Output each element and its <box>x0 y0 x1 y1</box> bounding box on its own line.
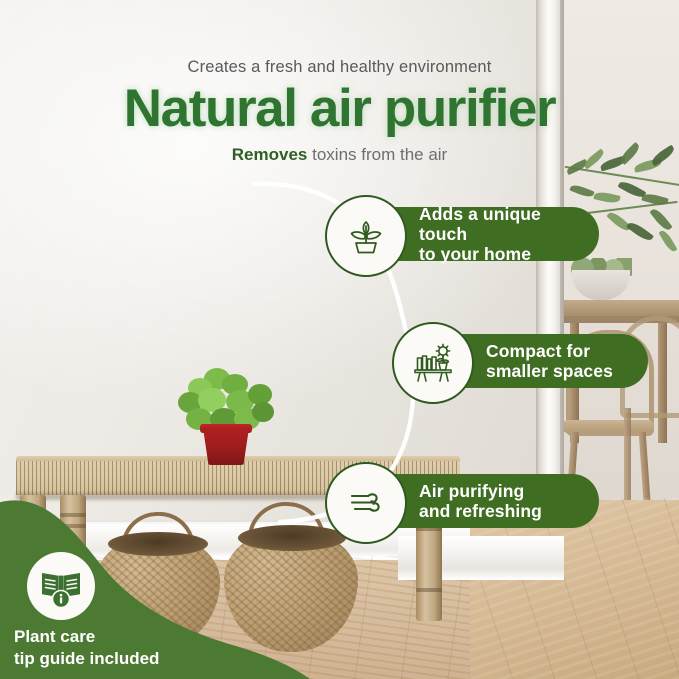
page-title: Natural air purifier <box>0 79 679 139</box>
feature-badge-1-line1: Adds a unique touch <box>419 204 541 244</box>
feature-badge-2-line1: Compact for <box>486 341 590 361</box>
plant-care-badge[interactable]: Plant care tip guide included <box>22 552 182 672</box>
feature-badge-3-text: Air purifying and refreshing <box>419 481 542 521</box>
feature-badge-2[interactable]: Compact for smaller spaces <box>392 322 650 400</box>
feature-badge-1-icon-circle[interactable] <box>325 195 407 277</box>
feature-badge-3-icon-circle[interactable] <box>325 462 407 544</box>
feature-badge-3-line2: and refreshing <box>419 501 542 521</box>
header-subtitle-rest: toxins from the air <box>307 145 447 164</box>
dining-chair-seat <box>562 420 654 433</box>
header: Creates a fresh and healthy environment … <box>0 0 679 165</box>
header-kicker: Creates a fresh and healthy environment <box>0 0 679 77</box>
plant-shelf-icon <box>409 339 457 387</box>
feature-badge-1-line2: to your home <box>419 244 531 264</box>
feature-badge-1[interactable]: Adds a unique touch to your home <box>325 195 600 273</box>
potted-plant-icon <box>343 213 389 259</box>
bench-leg-ring <box>416 588 442 592</box>
wind-icon <box>342 479 390 527</box>
product-infographic: Creates a fresh and healthy environment … <box>0 0 679 679</box>
header-subtitle: Removes toxins from the air <box>0 145 679 165</box>
plant-care-line2: tip guide included <box>14 648 182 670</box>
feature-badge-2-icon-circle[interactable] <box>392 322 474 404</box>
feature-badge-3-pill[interactable]: Air purifying and refreshing <box>381 474 599 528</box>
open-book-info-icon <box>38 563 84 609</box>
plant-pot <box>203 428 249 465</box>
plant-care-line1: Plant care <box>14 626 182 648</box>
feature-badge-2-line2: smaller spaces <box>486 361 613 381</box>
header-subtitle-strong: Removes <box>232 145 308 164</box>
jade-plant-foliage <box>176 368 276 432</box>
feature-badge-2-text: Compact for smaller spaces <box>486 341 613 381</box>
plant-care-icon-circle[interactable] <box>27 552 95 620</box>
feature-badge-2-pill[interactable]: Compact for smaller spaces <box>448 334 648 388</box>
console-table <box>562 300 679 316</box>
plant-care-text: Plant care tip guide included <box>14 626 182 670</box>
feature-badge-1-text: Adds a unique touch to your home <box>419 204 575 264</box>
feature-badge-3[interactable]: Air purifying and refreshing <box>325 462 600 540</box>
feature-badge-1-pill[interactable]: Adds a unique touch to your home <box>381 207 599 261</box>
feature-badge-3-line1: Air purifying <box>419 481 524 501</box>
